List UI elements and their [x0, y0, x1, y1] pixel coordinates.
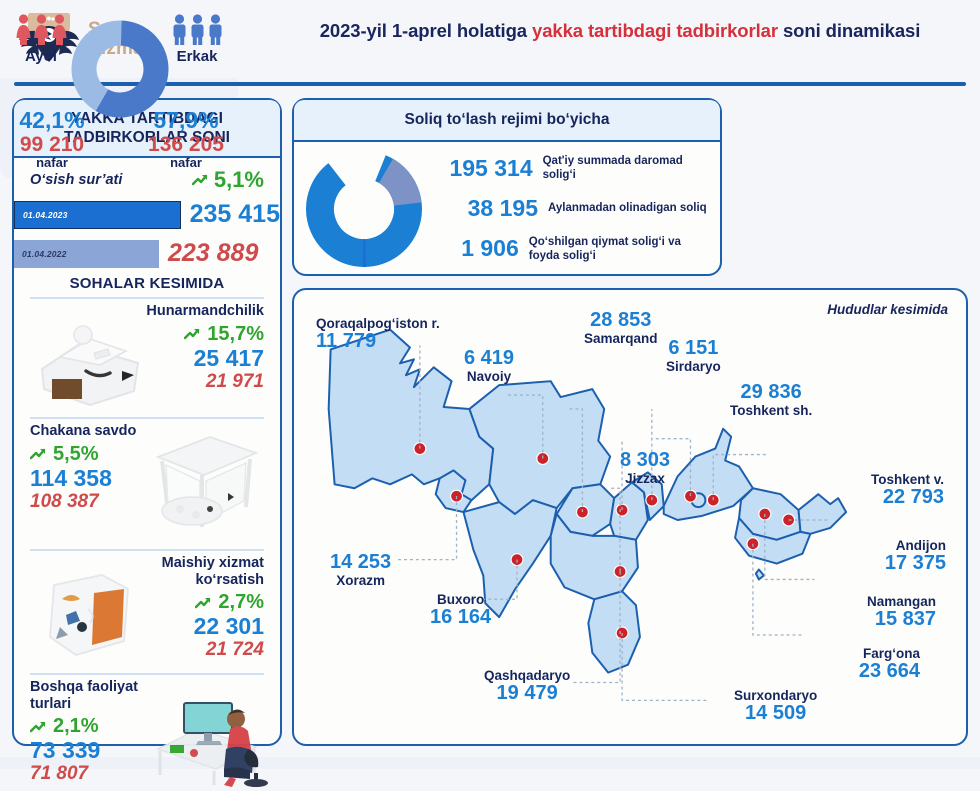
map-name-5: Toshkent v. — [871, 472, 944, 487]
map-value-6: 8 303 — [620, 450, 670, 471]
male-unit: nafar — [138, 156, 234, 170]
male-count: 136 205 — [138, 133, 234, 156]
map-value-10: 14 509 — [734, 703, 817, 724]
map-value-8: 15 837 — [867, 609, 936, 630]
household-service-icon — [32, 565, 144, 665]
sector-pct-3: 2,1% — [53, 715, 99, 738]
sector-pct-0: 15,7% — [207, 323, 264, 346]
male-group-icon — [162, 10, 232, 46]
map-name-1: Navoiy — [464, 369, 514, 384]
gender-breakdown-panel: Ayol Erkak 42,1% 99 210 nafar 57,9% 136 … — [0, 0, 238, 178]
female-group-icon — [6, 10, 76, 46]
regional-map-panel: Hududlar kesimida — [292, 288, 968, 746]
map-name-11: Qashqadaryo — [484, 668, 570, 683]
sector-chakana-savdo: Chakana savdo 5,5% 114 358 108 387 — [24, 419, 270, 549]
map-label-surxondaryo: Surxondaryo 14 509 — [734, 688, 817, 724]
sector-name-1: Chakana savdo — [30, 423, 154, 440]
female-stats: 42,1% 99 210 nafar — [4, 108, 100, 170]
male-pct: 57,9% — [138, 108, 234, 132]
bar-value-2022: 223 889 — [168, 239, 258, 268]
map-label-buxoro: Buxoro 16 164 — [430, 592, 491, 628]
map-name-13: Xorazm — [330, 573, 391, 588]
regime-row-0: 195 314 Qat'iy summada daromad solig‘i — [434, 154, 710, 182]
map-label-qoraqalpogiston: Qoraqalpog‘iston r. 11 779 — [316, 316, 440, 352]
year-comparison-bars: 01.04.2023 235 415 01.04.2022 223 889 — [14, 198, 280, 276]
arrow-up-icon — [195, 596, 211, 610]
map-name-3: Sirdaryo — [666, 359, 721, 374]
female-pct: 42,1% — [4, 108, 100, 132]
regime-value-0: 195 314 — [434, 155, 533, 182]
sector-previous-0: 21 971 — [134, 371, 264, 393]
sector-previous-3: 71 807 — [30, 763, 156, 785]
map-value-13: 14 253 — [330, 552, 391, 573]
map-label-toshkent-viloyati: Toshkent v. 22 793 — [871, 472, 944, 508]
map-label-samarqand: 28 853 Samarqand — [584, 310, 658, 346]
title-part-2: soni dinamikasi — [778, 20, 920, 41]
male-stats: 57,9% 136 205 nafar — [138, 108, 234, 170]
sector-maishiy-xizmat: Maishiy xizmat ko‘rsatish 2,7% 22 301 21… — [24, 551, 270, 673]
tax-regime-panel: Soliq to‘lash rejimi bo‘yicha 195 314 Qa… — [292, 98, 722, 276]
map-value-11: 19 479 — [484, 683, 570, 704]
regime-row-2: 1 906 Qo‘shilgan qiymat solig‘i va foyda… — [434, 235, 710, 263]
market-stall-icon — [140, 431, 268, 535]
regime-panel-title: Soliq to‘lash rejimi bo‘yicha — [294, 100, 720, 142]
female-count: 99 210 — [4, 133, 100, 156]
gender-donut-chart — [69, 18, 171, 120]
sector-current-1: 114 358 — [30, 466, 154, 491]
sector-current-0: 25 417 — [134, 346, 264, 371]
male-group: Erkak — [162, 10, 232, 65]
regime-value-2: 1 906 — [434, 235, 519, 262]
map-name-10: Surxondaryo — [734, 688, 817, 703]
sector-pct-1: 5,5% — [53, 443, 99, 466]
map-value-5: 22 793 — [871, 487, 944, 508]
title-part-1: 2023-yil 1-aprel holatiga — [320, 20, 532, 41]
bar-label-2023: 01.04.2023 — [14, 201, 181, 229]
bar-value-2023: 235 415 — [190, 200, 280, 229]
map-value-3: 6 151 — [666, 338, 721, 359]
sectors-section-title: SOHALAR KESIMIDA — [14, 275, 280, 292]
regime-label-1: Aylanmadan olinadigan soliq — [548, 201, 707, 215]
arrow-up-icon — [30, 447, 46, 461]
map-value-9: 23 664 — [859, 661, 920, 682]
sector-previous-1: 108 387 — [30, 491, 154, 513]
map-name-8: Namangan — [867, 594, 936, 609]
regime-row-1: 38 195 Aylanmadan olinadigan soliq — [434, 195, 710, 222]
map-name-7: Andijon — [885, 538, 946, 553]
map-value-2: 28 853 — [584, 310, 658, 331]
entrepreneurs-count-panel: YAKKA TARTIBDAGI TADBIRKORLAR SONI O‘sis… — [12, 98, 282, 746]
craft-workbench-icon — [30, 313, 150, 409]
female-group: Ayol — [6, 10, 76, 65]
arrow-up-icon — [30, 720, 46, 734]
male-label: Erkak — [162, 48, 232, 65]
map-label-andijon: Andijon 17 375 — [885, 538, 946, 574]
map-name-4: Toshkent sh. — [730, 403, 812, 418]
map-name-9: Farg‘ona — [859, 646, 920, 661]
map-name-12: Buxoro — [430, 592, 491, 607]
map-name-2: Samarqand — [584, 331, 658, 346]
sector-name-0: Hunarmandchilik — [134, 303, 264, 320]
sector-current-2: 22 301 — [130, 614, 264, 639]
map-label-fargona: Farg‘ona 23 664 — [859, 646, 920, 682]
map-name-6: Jizzax — [620, 471, 670, 486]
female-label: Ayol — [6, 48, 76, 65]
map-label-qashqadaryo: Qashqadaryo 19 479 — [484, 668, 570, 704]
map-label-sirdaryo: 6 151 Sirdaryo — [666, 338, 721, 374]
sector-name-3: Boshqa faoliyat turlari — [30, 679, 156, 712]
map-value-0: 11 779 — [316, 331, 440, 352]
bar-row-2023: 01.04.2023 235 415 — [14, 198, 280, 231]
regime-label-2: Qo‘shilgan qiymat solig‘i va foyda solig… — [529, 235, 710, 263]
page-title: 2023-yil 1-aprel holatiga yakka tartibda… — [300, 18, 940, 44]
map-label-jizzax: 8 303 Jizzax — [620, 450, 670, 486]
sector-name-2: Maishiy xizmat ko‘rsatish — [130, 555, 264, 588]
regime-donut-chart — [294, 142, 434, 275]
map-label-namangan: Namangan 15 837 — [867, 594, 936, 630]
map-value-7: 17 375 — [885, 553, 946, 574]
map-value-1: 6 419 — [464, 348, 514, 369]
title-highlight: yakka tartibdagi tadbirkorlar — [532, 20, 778, 41]
map-label-navoiy: 6 419 Navoiy — [464, 348, 514, 384]
map-value-12: 16 164 — [430, 607, 491, 628]
sector-pct-2: 2,7% — [218, 591, 264, 614]
sector-current-3: 73 339 — [30, 738, 156, 763]
map-label-xorazm: 14 253 Xorazm — [330, 552, 391, 588]
female-unit: nafar — [4, 156, 100, 170]
region-andijon — [799, 494, 847, 534]
regime-label-0: Qat'iy summada daromad solig‘i — [543, 154, 710, 182]
sector-boshqa-faoliyat: Boshqa faoliyat turlari 2,1% 73 339 71 8… — [24, 675, 270, 791]
map-label-toshkent-shahri: 29 836 Toshkent sh. — [730, 382, 812, 418]
map-value-4: 29 836 — [730, 382, 812, 403]
region-enclave — [756, 570, 764, 580]
regime-value-1: 38 195 — [434, 195, 538, 222]
map-name-0: Qoraqalpog‘iston r. — [316, 316, 440, 331]
sector-hunarmandchilik: Hunarmandchilik 15,7% 25 417 21 971 — [24, 299, 270, 417]
bar-row-2022: 01.04.2022 223 889 — [14, 237, 280, 270]
office-desk-worker-icon — [144, 689, 268, 787]
region-surxondaryo — [588, 591, 640, 672]
bar-label-2022: 01.04.2022 — [14, 240, 159, 268]
arrow-up-icon — [184, 327, 200, 341]
sector-previous-2: 21 724 — [130, 639, 264, 661]
